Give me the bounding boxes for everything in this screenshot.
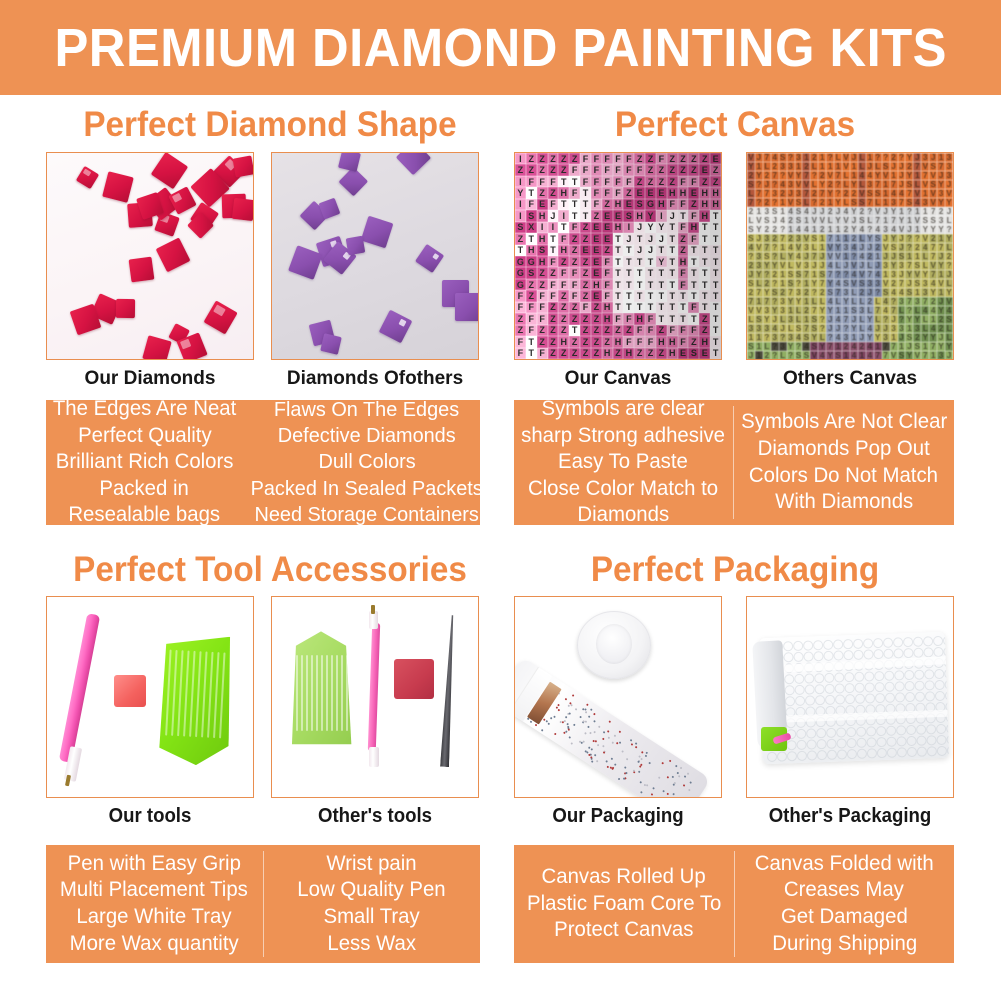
symbol-cell: T xyxy=(548,245,559,256)
symbol-cell: 7 xyxy=(818,189,826,198)
symbol-cell: Z xyxy=(602,325,613,336)
symbol-cell: Z xyxy=(537,336,548,347)
symbol-cell: 3 xyxy=(882,225,890,234)
tray-rib xyxy=(183,651,189,737)
symbol-cell: H xyxy=(613,222,624,233)
tube-print-speck xyxy=(662,789,665,792)
symbol-cell: J xyxy=(890,315,898,324)
symbol-cell: J xyxy=(645,233,656,244)
bubble xyxy=(815,684,825,694)
bubble xyxy=(886,726,896,736)
symbol-cell: L xyxy=(779,315,787,324)
symbol-cell: J xyxy=(667,210,678,221)
diamond-tray xyxy=(288,629,354,749)
symbol-cell: Z xyxy=(667,164,678,175)
tube-print-speck xyxy=(608,720,611,723)
symbol-cell: J xyxy=(882,234,890,243)
symbol-cell: S xyxy=(537,245,548,256)
symbol-cell: L xyxy=(913,306,921,315)
symbol-cell: T xyxy=(613,302,624,313)
tray-rib xyxy=(316,655,318,731)
symbol-cell: Z xyxy=(688,164,699,175)
symbol-cell: Z xyxy=(591,302,602,313)
symbol-cell: Z xyxy=(537,153,548,164)
symbol-cell: Y xyxy=(810,279,818,288)
symbol-cell: L xyxy=(818,333,826,342)
bubble xyxy=(833,639,843,649)
symbol-cell: 3 xyxy=(890,270,898,279)
panel-line: Resealable bags xyxy=(69,502,221,529)
tube-print-speck xyxy=(613,763,616,766)
symbol-cell: J xyxy=(826,315,834,324)
symbol-cell: S xyxy=(771,288,779,297)
symbol-grid: IZZZZZFFFFFZZFZZZZEZZZZZFFFFFFFZZZZZEZIF… xyxy=(515,153,721,359)
symbol-cell: Z xyxy=(699,325,710,336)
symbol-cell: L xyxy=(866,261,874,270)
symbol-cell: Z xyxy=(645,348,656,359)
panel-line: Colors Do Not Match xyxy=(749,463,938,490)
symbol-cell: ? xyxy=(779,333,787,342)
symbol-cell: S xyxy=(623,210,634,221)
bubble xyxy=(845,694,855,704)
bubble xyxy=(875,693,885,703)
symbol-cell: J xyxy=(850,315,858,324)
symbol-cell: S xyxy=(858,279,866,288)
bubble xyxy=(925,691,935,701)
symbol-cell: Y xyxy=(890,207,898,216)
bubble xyxy=(825,695,835,705)
symbol-cell: Y xyxy=(763,315,771,324)
bubble xyxy=(866,726,876,736)
symbol-cell: I xyxy=(558,210,569,221)
symbol-cell: 4 xyxy=(834,279,842,288)
bubble xyxy=(926,735,936,745)
symbol-cell: 1 xyxy=(882,180,890,189)
symbol-cell: 3 xyxy=(921,279,929,288)
symbol-cell: F xyxy=(580,176,591,187)
symbol-cell: ? xyxy=(771,198,779,207)
symbol-cell: 7 xyxy=(834,288,842,297)
symbol-cell: T xyxy=(699,302,710,313)
symbol-cell: F xyxy=(678,279,689,290)
bubble xyxy=(934,680,944,690)
symbol-cell: 3 xyxy=(802,243,810,252)
symbol-cell: 2 xyxy=(763,225,771,234)
panel-line: Packed In Sealed Packets xyxy=(251,476,483,502)
symbol-cell: L xyxy=(866,216,874,225)
symbol-cell: H xyxy=(558,187,569,198)
diamond-pen xyxy=(368,623,380,751)
symbol-cell: 7 xyxy=(890,216,898,225)
symbol-cell: Y xyxy=(921,333,929,342)
symbol-cell: J xyxy=(858,261,866,270)
symbol-cell: T xyxy=(699,233,710,244)
symbol-cell: T xyxy=(699,222,710,233)
symbol-cell: Y xyxy=(945,288,953,297)
symbol-cell: L xyxy=(787,324,795,333)
symbol-cell: T xyxy=(667,290,678,301)
symbol-cell: Y xyxy=(645,210,656,221)
symbol-cell: L xyxy=(834,261,842,270)
symbol-cell: J xyxy=(623,233,634,244)
symbol-cell: 1 xyxy=(755,351,763,359)
symbol-cell: Y xyxy=(905,153,913,162)
bubble xyxy=(837,749,847,759)
symbol-cell: 2 xyxy=(937,207,945,216)
symbol-cell: I xyxy=(623,222,634,233)
symbol-cell: ? xyxy=(834,189,842,198)
panel-column-theirs: Flaws On The Edges Defective Diamonds Du… xyxy=(243,400,490,525)
tube-print-speck xyxy=(634,746,637,749)
symbol-cell: Z xyxy=(569,302,580,313)
symbol-cell: Y xyxy=(937,306,945,315)
caption-others-tools: Other's tools xyxy=(278,805,471,828)
symbol-cell: 4 xyxy=(787,243,795,252)
panel-line: Brilliant Rich Colors xyxy=(56,449,234,476)
photo-pink-symbol-canvas: IZZZZZFFFFFZZFZZZZEZZZZZFFFFFFFZZZZZEZIF… xyxy=(515,153,721,359)
symbol-cell: 2 xyxy=(937,324,945,333)
symbol-cell: 1 xyxy=(802,153,810,162)
symbol-cell: ? xyxy=(945,261,953,270)
symbol-cell: J xyxy=(858,333,866,342)
symbol-cell: 1 xyxy=(747,333,755,342)
symbol-cell: Y xyxy=(937,198,945,207)
symbol-cell: Y xyxy=(656,256,667,267)
symbol-cell: H xyxy=(591,279,602,290)
bubble xyxy=(863,649,873,659)
symbol-cell: Y xyxy=(905,315,913,324)
symbol-cell: S xyxy=(795,216,803,225)
tube-print-speck xyxy=(596,760,599,763)
panel-line: Canvas Rolled Up xyxy=(542,864,706,891)
symbol-cell: J xyxy=(898,243,906,252)
symbol-cell: ? xyxy=(826,333,834,342)
page-title: PREMIUM DIAMOND PAINTING KITS xyxy=(54,17,947,79)
symbol-cell: 1 xyxy=(834,234,842,243)
panel-line: Get Damaged xyxy=(781,904,908,931)
panel-line: Pen with Easy Grip xyxy=(68,851,241,878)
symbol-cell: 2 xyxy=(763,171,771,180)
symbol-cell: T xyxy=(656,245,667,256)
symbol-cell: V xyxy=(850,261,858,270)
symbol-cell: 2 xyxy=(858,288,866,297)
symbol-cell: T xyxy=(558,199,569,210)
symbol-cell: G xyxy=(515,256,526,267)
symbol-cell: 2 xyxy=(802,306,810,315)
symbol-cell: 4 xyxy=(834,315,842,324)
symbol-cell: ? xyxy=(905,306,913,315)
symbol-cell: T xyxy=(613,290,624,301)
symbol-cell: 3 xyxy=(802,261,810,270)
diamond-tray xyxy=(156,633,235,767)
symbol-cell: H xyxy=(537,256,548,267)
symbol-cell: Y xyxy=(834,198,842,207)
symbol-cell: 3 xyxy=(795,288,803,297)
symbol-cell: T xyxy=(678,290,689,301)
tube-print-speck xyxy=(606,730,609,733)
symbol-cell: Z xyxy=(645,153,656,164)
symbol-cell: Z xyxy=(634,153,645,164)
symbol-cell: L xyxy=(858,162,866,171)
tube-print-speck xyxy=(586,703,589,706)
symbol-cell: T xyxy=(667,267,678,278)
symbol-cell: 1 xyxy=(913,171,921,180)
symbol-cell: 7 xyxy=(882,351,890,359)
tube-print-speck xyxy=(557,708,560,711)
tube-print-speck xyxy=(630,743,633,746)
symbol-cell: S xyxy=(763,252,771,261)
symbol-cell: L xyxy=(921,252,929,261)
symbol-cell: 2 xyxy=(842,189,850,198)
symbol-cell: Z xyxy=(667,153,678,164)
symbol-cell: Z xyxy=(537,279,548,290)
symbol-cell: Y xyxy=(755,225,763,234)
symbol-cell: H xyxy=(602,302,613,313)
tube-print-speck xyxy=(590,748,593,751)
symbol-cell: Z xyxy=(678,233,689,244)
symbol-cell: T xyxy=(623,290,634,301)
symbol-cell: V xyxy=(826,243,834,252)
symbol-cell: 7 xyxy=(929,207,937,216)
tube-print-speck xyxy=(608,736,611,739)
symbol-cell: S xyxy=(858,216,866,225)
symbol-cell: F xyxy=(526,176,537,187)
symbol-cell: Y xyxy=(866,234,874,243)
symbol-cell: J xyxy=(890,252,898,261)
image-our-diamonds xyxy=(46,152,254,360)
panel-line: Defective Diamonds xyxy=(278,423,456,449)
bubble xyxy=(853,639,863,649)
symbol-cell: Z xyxy=(634,176,645,187)
symbol-cell: T xyxy=(645,302,656,313)
bubble xyxy=(795,696,805,706)
panel-column-ours: Symbols are clear sharp Strong adhesive … xyxy=(514,400,733,525)
symbol-cell: F xyxy=(548,176,559,187)
bubble xyxy=(826,728,836,738)
diamond-drill xyxy=(232,155,253,177)
symbol-cell: V xyxy=(858,189,866,198)
tube-print-speck xyxy=(669,760,672,763)
symbol-cell: V xyxy=(921,180,929,189)
symbol-cell: 7 xyxy=(810,252,818,261)
symbol-cell: 4 xyxy=(850,342,858,351)
bubble xyxy=(935,691,945,701)
symbol-cell: S xyxy=(795,351,803,359)
symbol-cell: 3 xyxy=(795,234,803,243)
symbol-cell: 4 xyxy=(802,207,810,216)
symbol-cell: L xyxy=(913,180,921,189)
symbol-cell: 3 xyxy=(921,198,929,207)
image-others-tools xyxy=(271,596,479,798)
symbol-cell: Z xyxy=(591,210,602,221)
symbol-cell: S xyxy=(688,348,699,359)
symbol-cell: 4 xyxy=(826,297,834,306)
symbol-cell: T xyxy=(710,233,721,244)
symbol-cell: E xyxy=(699,164,710,175)
symbol-cell: 1 xyxy=(795,162,803,171)
symbol-cell: F xyxy=(537,302,548,313)
tube-print-speck xyxy=(646,751,649,754)
symbol-cell: L xyxy=(795,306,803,315)
bubble xyxy=(797,751,807,761)
symbol-cell: S xyxy=(874,189,882,198)
symbol-cell: J xyxy=(937,171,945,180)
symbol-cell: Z xyxy=(515,164,526,175)
tube-print-speck xyxy=(652,786,655,789)
symbol-cell: G xyxy=(526,256,537,267)
symbol-cell: 3 xyxy=(795,153,803,162)
symbol-cell: 1 xyxy=(937,270,945,279)
symbol-cell: 1 xyxy=(890,333,898,342)
symbol-cell: 4 xyxy=(795,333,803,342)
symbol-cell: F xyxy=(645,313,656,324)
bubble xyxy=(813,651,823,661)
panel-line: Diamonds Pop Out xyxy=(758,436,930,463)
panel-column-theirs: Symbols Are Not Clear Diamonds Pop Out C… xyxy=(734,400,954,525)
symbol-cell: 1 xyxy=(826,198,834,207)
symbol-cell: S xyxy=(874,234,882,243)
bubble xyxy=(897,747,907,757)
symbol-cell: S xyxy=(834,351,842,359)
symbol-cell: 1 xyxy=(818,162,826,171)
symbol-cell: V xyxy=(913,351,921,359)
symbol-cell: S xyxy=(921,216,929,225)
tube-print-speck xyxy=(640,763,643,766)
symbol-cell: F xyxy=(537,313,548,324)
wax-square xyxy=(394,659,434,699)
symbol-cell: Z xyxy=(656,176,667,187)
bubble xyxy=(846,738,856,748)
tube-print-speck xyxy=(626,758,629,761)
symbol-cell: 3 xyxy=(945,153,953,162)
symbol-cell: 7 xyxy=(921,171,929,180)
symbol-cell: 7 xyxy=(826,234,834,243)
symbol-cell: V xyxy=(913,189,921,198)
symbol-cell: ? xyxy=(810,288,818,297)
symbol-cell: T xyxy=(634,302,645,313)
symbol-cell: E xyxy=(656,187,667,198)
symbol-cell: V xyxy=(929,198,937,207)
symbol-cell: Z xyxy=(699,313,710,324)
bubble xyxy=(907,747,917,757)
bubble xyxy=(904,681,914,691)
bubble xyxy=(823,640,833,650)
panel-line: Protect Canvas xyxy=(554,917,693,944)
symbol-cell: 3 xyxy=(898,297,906,306)
symbol-cell: S xyxy=(882,162,890,171)
tray-rib xyxy=(171,650,177,736)
bubble xyxy=(893,637,903,647)
bubble xyxy=(777,751,787,761)
symbol-cell: Z xyxy=(591,336,602,347)
symbol-cell: E xyxy=(602,222,613,233)
bubble xyxy=(916,735,926,745)
symbol-cell: 3 xyxy=(779,297,787,306)
bubble xyxy=(787,751,797,761)
symbol-cell: 4 xyxy=(882,297,890,306)
bubble xyxy=(946,723,949,733)
symbol-cell: Z xyxy=(515,313,526,324)
symbol-cell: 3 xyxy=(779,162,787,171)
symbol-cell: E xyxy=(591,290,602,301)
tube-print-speck xyxy=(547,722,550,725)
symbol-cell: F xyxy=(678,336,689,347)
symbol-cell: V xyxy=(818,216,826,225)
tray-rib xyxy=(331,655,333,731)
symbol-cell: 7 xyxy=(898,279,906,288)
symbol-cell: 2 xyxy=(747,171,755,180)
symbol-cell: S xyxy=(810,342,818,351)
symbol-cell: 7 xyxy=(890,342,898,351)
symbol-cell: L xyxy=(747,315,755,324)
wax-square xyxy=(114,675,146,707)
symbol-cell: S xyxy=(913,261,921,270)
symbol-cell: 2 xyxy=(905,162,913,171)
symbol-cell: F xyxy=(591,199,602,210)
symbol-cell: J xyxy=(882,252,890,261)
symbol-cell: E xyxy=(591,233,602,244)
diamond-drill xyxy=(320,333,342,355)
symbol-cell: Y xyxy=(874,333,882,342)
symbol-cell: 1 xyxy=(826,225,834,234)
symbol-cell: ? xyxy=(771,279,779,288)
symbol-cell: T xyxy=(569,176,580,187)
bubble xyxy=(905,692,915,702)
symbol-cell: J xyxy=(898,234,906,243)
symbol-cell: ? xyxy=(826,153,834,162)
symbol-cell: T xyxy=(699,256,710,267)
symbol-cell: Z xyxy=(634,348,645,359)
symbol-cell: V xyxy=(882,171,890,180)
symbol-cell: J xyxy=(548,210,559,221)
symbol-cell: 7 xyxy=(818,279,826,288)
tube-print-speck xyxy=(565,716,568,719)
symbol-cell: 1 xyxy=(755,342,763,351)
symbol-cell: 3 xyxy=(763,306,771,315)
symbol-cell: 7 xyxy=(913,162,921,171)
symbol-cell: 2 xyxy=(771,225,779,234)
symbol-cell: 4 xyxy=(850,270,858,279)
bubble xyxy=(893,648,903,658)
symbol-cell: L xyxy=(802,198,810,207)
symbol-cell: Z xyxy=(548,313,559,324)
diamond-drill xyxy=(232,198,253,222)
symbol-cell: F xyxy=(613,164,624,175)
tray-rib xyxy=(296,655,298,731)
symbol-cell: V xyxy=(826,171,834,180)
symbol-cell: E xyxy=(602,210,613,221)
tube-print-speck xyxy=(573,724,576,727)
bubble xyxy=(853,650,863,660)
symbol-cell: 1 xyxy=(755,333,763,342)
symbol-cell: F xyxy=(678,176,689,187)
symbol-cell: F xyxy=(613,176,624,187)
symbol-cell: V xyxy=(882,279,890,288)
symbol-cell: I xyxy=(548,222,559,233)
symbol-cell: T xyxy=(645,267,656,278)
panel-column-ours: Canvas Rolled Up Plastic Foam Core To Pr… xyxy=(514,845,734,963)
symbol-cell: 3 xyxy=(787,180,795,189)
symbol-cell: 7 xyxy=(802,324,810,333)
symbol-cell: 3 xyxy=(882,333,890,342)
bubble xyxy=(896,725,906,735)
symbol-cell: J xyxy=(890,162,898,171)
panel-line: Diamonds xyxy=(577,502,669,529)
tube-print-speck xyxy=(602,738,605,741)
symbol-cell: 7 xyxy=(747,297,755,306)
bubble xyxy=(944,668,949,678)
bubble xyxy=(923,636,933,646)
